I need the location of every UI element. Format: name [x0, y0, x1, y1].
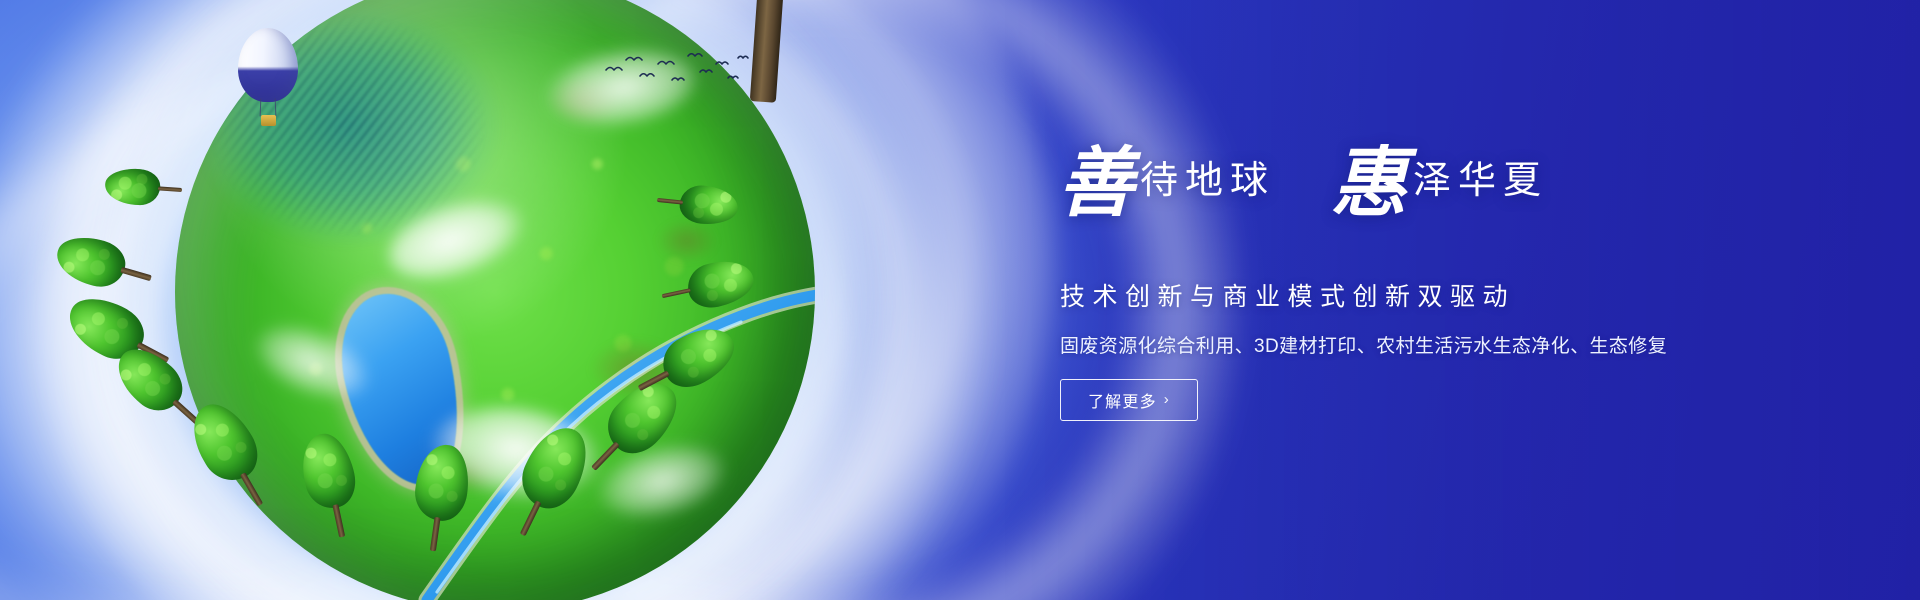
- headline-phrase1-small: 待地球: [1140, 160, 1275, 202]
- birds-icon: [600, 44, 750, 92]
- chevron-right-icon: ›: [1164, 392, 1170, 407]
- page-title: 善待地球惠泽华夏: [1058, 146, 1548, 222]
- headline-phrase1-big: 善: [1058, 142, 1134, 226]
- headline-phrase2-small: 泽华夏: [1413, 160, 1548, 202]
- hot-air-balloon-icon: [238, 28, 298, 132]
- hero-content: 善待地球惠泽华夏 技术创新与商业模式创新双驱动 固废资源化综合利用、3D建材打印…: [1058, 0, 1698, 600]
- learn-more-label: 了解更多: [1088, 388, 1157, 412]
- hero-tagline: 固废资源化综合利用、3D建材打印、农村生活污水生态净化、生态修复: [1060, 331, 1667, 358]
- headline-phrase2-big: 惠: [1331, 142, 1407, 226]
- hero-banner: 善待地球惠泽华夏 技术创新与商业模式创新双驱动 固废资源化综合利用、3D建材打印…: [0, 0, 1920, 600]
- hero-subtitle: 技术创新与商业模式创新双驱动: [1060, 277, 1515, 313]
- learn-more-button[interactable]: 了解更多 ›: [1060, 379, 1198, 421]
